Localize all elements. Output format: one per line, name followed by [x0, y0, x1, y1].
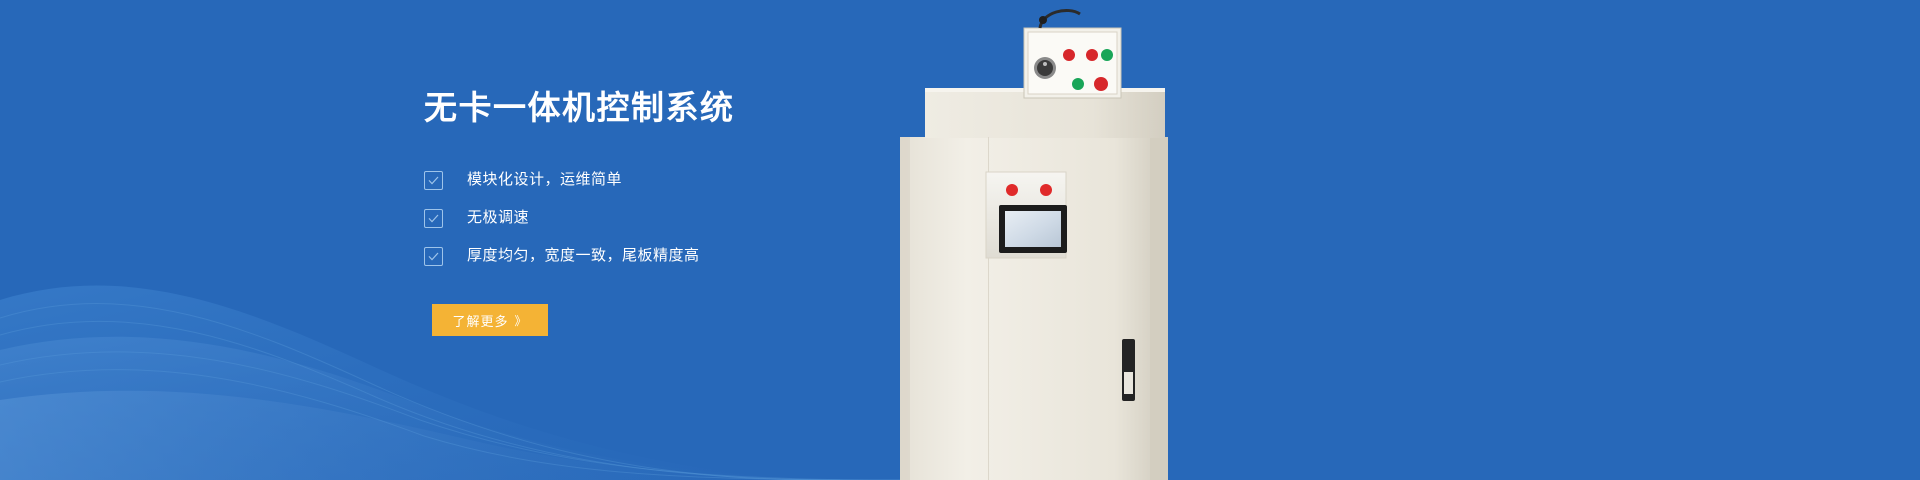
learn-more-label: 了解更多 — [452, 311, 508, 330]
chevron-right-icon: 》 — [515, 312, 528, 329]
feature-label: 模块化设计，运维简单 — [467, 170, 622, 190]
check-square-icon — [424, 247, 443, 266]
indicator-green-1 — [1101, 49, 1113, 61]
indicator-red-3 — [1094, 77, 1108, 91]
check-square-icon — [424, 171, 443, 190]
indicator-green-2 — [1072, 78, 1084, 90]
feature-label: 厚度均匀，宽度一致，尾板精度高 — [467, 246, 700, 266]
learn-more-button[interactable]: 了解更多 》 — [432, 304, 548, 336]
indicator-red-1 — [1063, 49, 1075, 61]
control-cabinet-photo — [900, 0, 1460, 480]
feature-label: 无极调速 — [467, 208, 529, 228]
touchscreen-display — [1005, 211, 1061, 247]
check-square-icon — [424, 209, 443, 228]
hero-banner: 无卡一体机控制系统 模块化设计，运维简单 无极调速 — [0, 0, 1920, 480]
indicator-red-2 — [1086, 49, 1098, 61]
panel-light-red-1 — [1006, 184, 1018, 196]
panel-light-red-2 — [1040, 184, 1052, 196]
